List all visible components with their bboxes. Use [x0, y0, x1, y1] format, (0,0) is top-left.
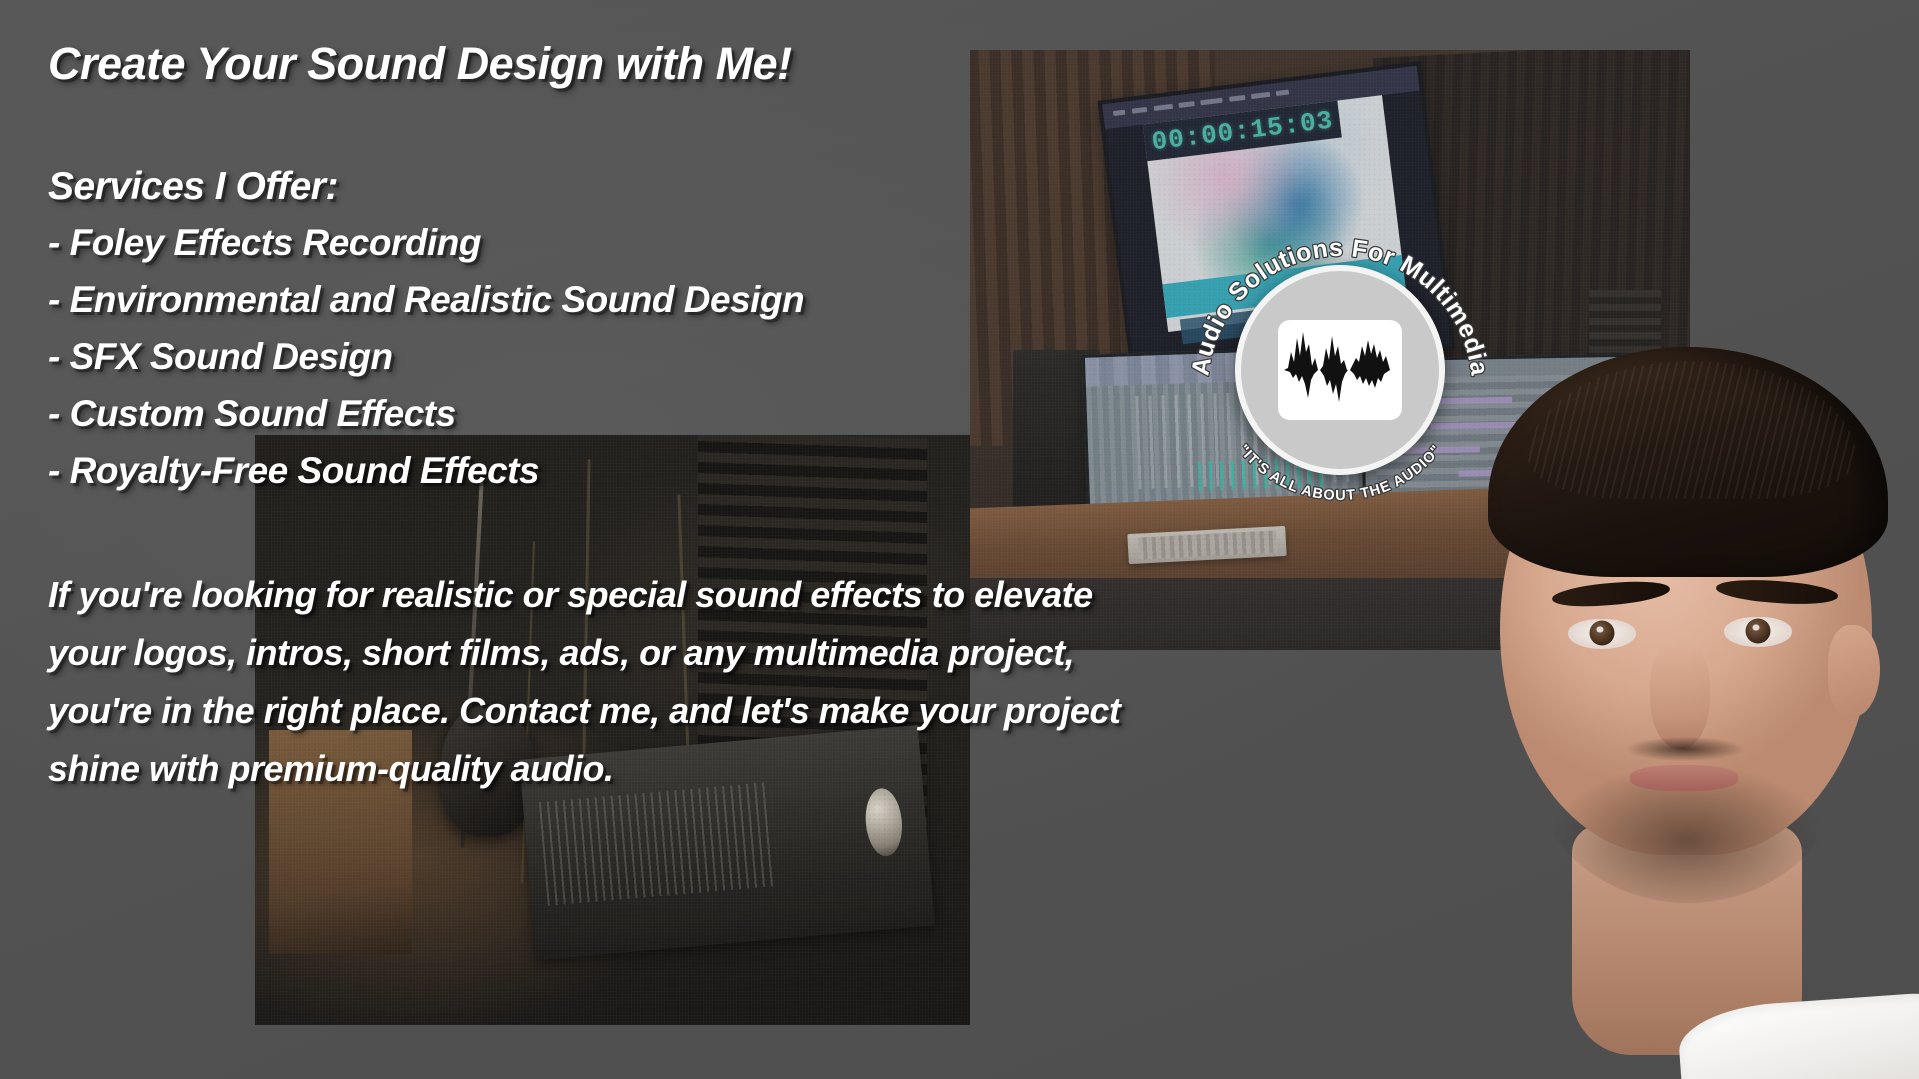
waveform-svg [1280, 322, 1400, 418]
paragraph-line: If you're looking for realistic or speci… [48, 574, 1093, 616]
eye-left [1568, 619, 1636, 649]
moustache [1626, 737, 1744, 761]
service-item: - Custom Sound Effects [48, 393, 456, 435]
logo-disc [1235, 265, 1445, 475]
audio-waveform-icon [1278, 320, 1402, 420]
service-item: - SFX Sound Design [48, 336, 393, 378]
mouth [1630, 765, 1738, 791]
service-item: - Environmental and Realistic Sound Desi… [48, 279, 804, 321]
hair [1488, 347, 1888, 577]
service-item: - Royalty-Free Sound Effects [48, 450, 539, 492]
paragraph-line: you're in the right place. Contact me, a… [48, 690, 1120, 732]
audio-solutions-logo: Audio Solutions For Multimedia "IT'S ALL… [1190, 220, 1490, 520]
paragraph-line: shine with premium-quality audio. [48, 748, 614, 790]
service-item: - Foley Effects Recording [48, 222, 481, 264]
page-title: Create Your Sound Design with Me! [48, 38, 792, 90]
presenter-portrait [1480, 325, 1919, 1079]
services-heading: Services I Offer: [48, 165, 338, 209]
paragraph-line: your logos, intros, short films, ads, or… [48, 632, 1074, 674]
promo-graphic-canvas: 00:00:15:03 [0, 0, 1919, 1079]
eye-right [1724, 617, 1792, 647]
